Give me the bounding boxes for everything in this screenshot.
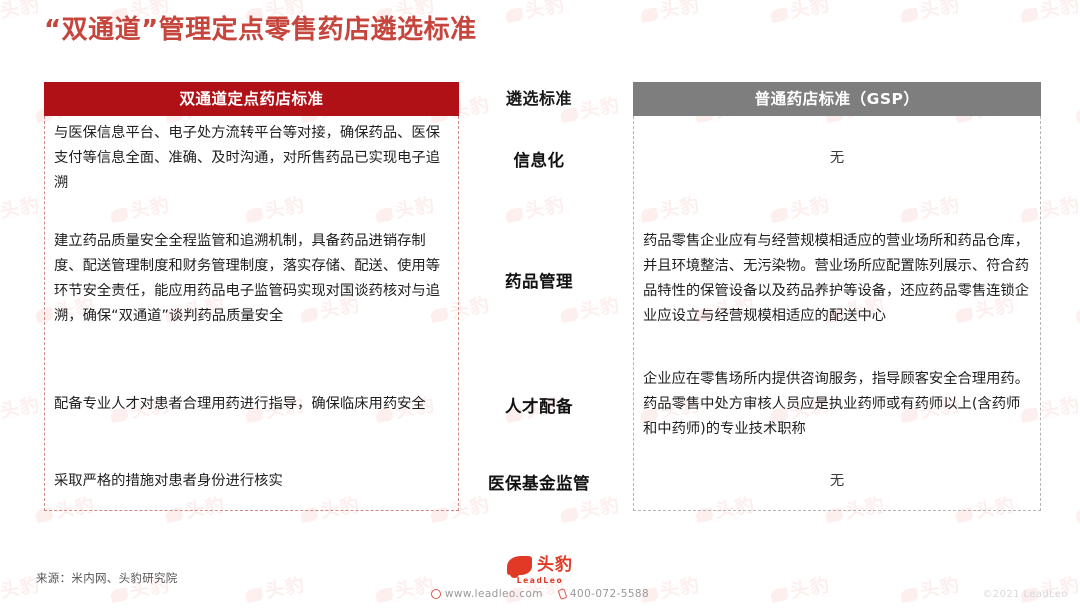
table-cell-gsp-2: 企业应在零售场所内提供咨询服务，指导顾客安全合理用药。 药品零售中处方审核人员应… (634, 357, 1040, 453)
criterion-label-3: 医保基金监管 (474, 453, 604, 510)
column-header-gsp: 普通药店标准（GSP） (633, 82, 1041, 116)
globe-icon (431, 589, 441, 599)
criterion-label-2: 人才配备 (474, 357, 604, 453)
table-cell-gsp-1: 药品零售企业应有与经营规模相适应的营业场所和药品仓库，并且环境整洁、无污染物。营… (634, 202, 1040, 357)
cell-text: 与医保信息平台、电子处方流转平台等对接，确保药品、医保支付等信息全面、准确、及时… (54, 121, 449, 196)
website-item: www.leadleo.com (431, 588, 543, 600)
column-header-criteria: 遴选标准 (474, 82, 604, 116)
page-title: “双通道”管理定点零售药店遴选标准 (44, 12, 477, 48)
leopard-logo-icon (507, 556, 532, 575)
cell-text: 配备专业人才对患者合理用药进行指导，确保临床用药安全 (54, 392, 449, 417)
copyright-text: ©2021 LeadLeo (982, 589, 1068, 600)
cell-text: 无 (643, 469, 1031, 494)
column-header-dual-channel: 双通道定点药店标准 (44, 82, 459, 116)
brand-name-cn: 头豹 (537, 557, 573, 574)
cell-text: 药品零售企业应有与经营规模相适应的营业场所和药品仓库，并且环境整洁、无污染物。营… (643, 229, 1031, 329)
cell-text: 无 (643, 146, 1031, 171)
cell-text: 采取严格的措施对患者身份进行核实 (54, 469, 449, 494)
column-body-criteria: 信息化 药品管理 人才配备 医保基金监管 (474, 116, 604, 510)
website-text: www.leadleo.com (445, 588, 543, 600)
cell-text: 建立药品质量安全全程监管和追溯机制，具备药品进销存制度、配送管理制度和财务管理制… (54, 229, 449, 329)
cell-text: 企业应在零售场所内提供咨询服务，指导顾客安全合理用药。 药品零售中处方审核人员应… (643, 367, 1031, 442)
table-cell-dual-channel-0: 与医保信息平台、电子处方流转平台等对接，确保药品、医保支付等信息全面、准确、及时… (45, 116, 458, 202)
criterion-label-1: 药品管理 (474, 202, 604, 357)
phone-item: 400-072-5588 (559, 588, 649, 600)
table-cell-dual-channel-1: 建立药品质量安全全程监管和追溯机制，具备药品进销存制度、配送管理制度和财务管理制… (45, 202, 458, 357)
column-dual-channel: 双通道定点药店标准 与医保信息平台、电子处方流转平台等对接，确保药品、医保支付等… (44, 82, 459, 511)
table-cell-dual-channel-2: 配备专业人才对患者合理用药进行指导，确保临床用药安全 (45, 357, 458, 453)
brand-name-en: LeadLeo (517, 576, 564, 585)
table-cell-gsp-3: 无 (634, 453, 1040, 510)
brand-logo: 头豹 (507, 556, 573, 575)
phone-icon (558, 588, 568, 600)
brand-contact-row: www.leadleo.com 400-072-5588 (431, 588, 649, 600)
table-cell-dual-channel-3: 采取严格的措施对患者身份进行核实 (45, 453, 458, 510)
phone-text: 400-072-5588 (570, 588, 649, 600)
table-cell-gsp-0: 无 (634, 116, 1040, 202)
slide-page: “双通道”管理定点零售药店遴选标准 双通道定点药店标准 与医保信息平台、电子处方… (0, 0, 1080, 608)
comparison-table: 双通道定点药店标准 与医保信息平台、电子处方流转平台等对接，确保药品、医保支付等… (0, 82, 1080, 511)
column-body-gsp: 无 药品零售企业应有与经营规模相适应的营业场所和药品仓库，并且环境整洁、无污染物… (633, 116, 1041, 511)
column-body-dual-channel: 与医保信息平台、电子处方流转平台等对接，确保药品、医保支付等信息全面、准确、及时… (44, 116, 459, 511)
column-criteria: 遴选标准 信息化 药品管理 人才配备 医保基金监管 (474, 82, 604, 510)
footer-brand: 头豹 LeadLeo www.leadleo.com 400-072-5588 (0, 556, 1080, 600)
criterion-label-0: 信息化 (474, 116, 604, 202)
column-gsp: 普通药店标准（GSP） 无 药品零售企业应有与经营规模相适应的营业场所和药品仓库… (633, 82, 1041, 511)
